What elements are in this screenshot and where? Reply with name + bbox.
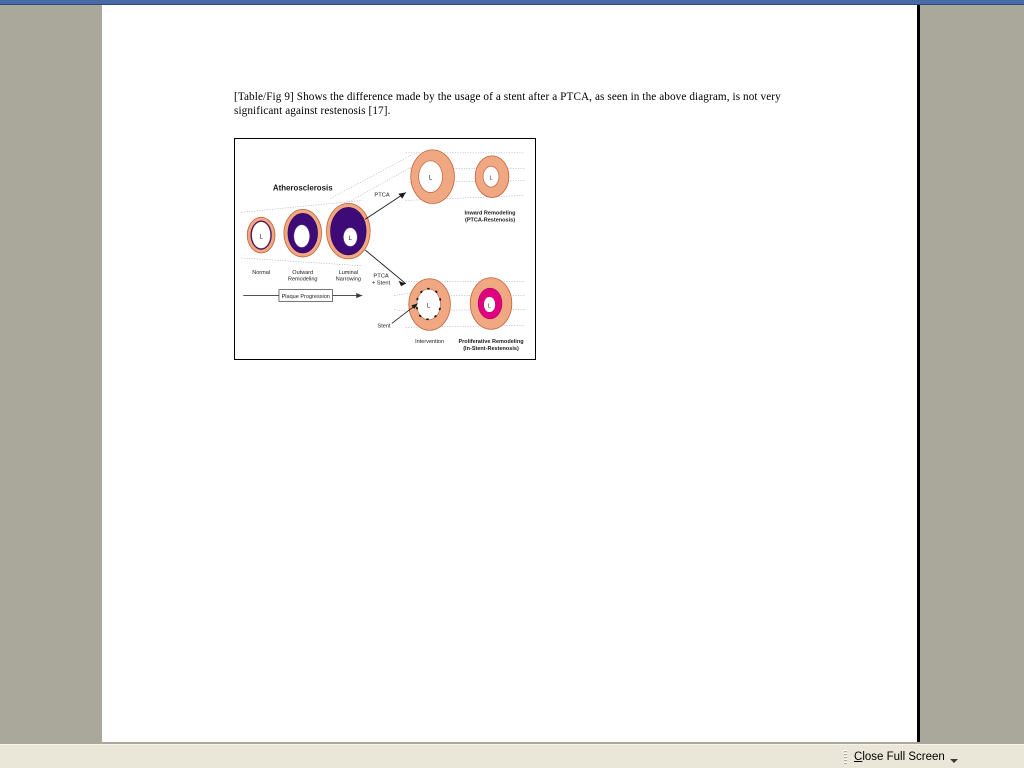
lumen-letter: L xyxy=(488,303,491,309)
close-full-screen-button[interactable]: Close Full Screen xyxy=(841,746,963,768)
atherosclerosis-diagram: L L Atherosclerosis Normal Outward Remod… xyxy=(235,139,535,359)
document-page: [Table/Fig 9] Shows the difference made … xyxy=(102,5,920,742)
vessel-luminal-narrowing: L xyxy=(327,203,371,258)
close-full-screen-rest: lose Full Screen xyxy=(862,751,944,763)
stage-label-intervention: Intervention xyxy=(415,339,444,345)
bottom-taskbar: Close Full Screen xyxy=(0,744,1024,768)
stage-label-normal: Normal xyxy=(252,270,270,276)
vessel-normal: L xyxy=(247,217,275,253)
stent-callout-label: Stent xyxy=(378,323,391,329)
outcome-label-proliferative-2: (In-Stent-Restenosis) xyxy=(463,346,519,352)
stage-label-luminal-1: Luminal xyxy=(339,270,358,276)
outcome-label-proliferative-1: Proliferative Remodeling xyxy=(458,339,524,345)
vessel-inward-remodeling: L xyxy=(475,156,509,198)
vessel-post-ptca: L xyxy=(411,150,455,204)
close-full-screen-label: Close Full Screen xyxy=(854,751,945,763)
ptca-stent-arrow-label-1: PTCA xyxy=(373,274,388,280)
vessel-in-stent-restenosis: L xyxy=(470,278,512,330)
plaque-progression-arrow: Plaque Progression xyxy=(243,290,362,302)
figure-caption: [Table/Fig 9] Shows the difference made … xyxy=(234,91,816,118)
ptca-arrow-label: PTCA xyxy=(374,192,389,198)
lumen-letter: L xyxy=(489,176,492,182)
stage-label-luminal-2: Narrowing xyxy=(336,277,361,283)
stage-label-outward-2: Remodeling xyxy=(288,277,318,283)
stage-label-outward-1: Outward xyxy=(292,270,313,276)
outcome-label-inward-1: Inward Remodeling xyxy=(465,210,517,216)
figure-heading-atherosclerosis: Atherosclerosis xyxy=(273,184,333,193)
plaque-progression-label: Plaque Progression xyxy=(282,294,330,300)
chevron-down-icon[interactable] xyxy=(950,759,958,763)
toolbar-grip-handle[interactable] xyxy=(844,750,847,765)
figure-image-frame: L L Atherosclerosis Normal Outward Remod… xyxy=(234,138,536,360)
outcome-label-inward-2: (PTCA-Restenosis) xyxy=(465,217,515,223)
vessel-outward-remodeling xyxy=(284,209,322,257)
ptca-stent-arrow-label-2: + Stent xyxy=(372,281,391,287)
